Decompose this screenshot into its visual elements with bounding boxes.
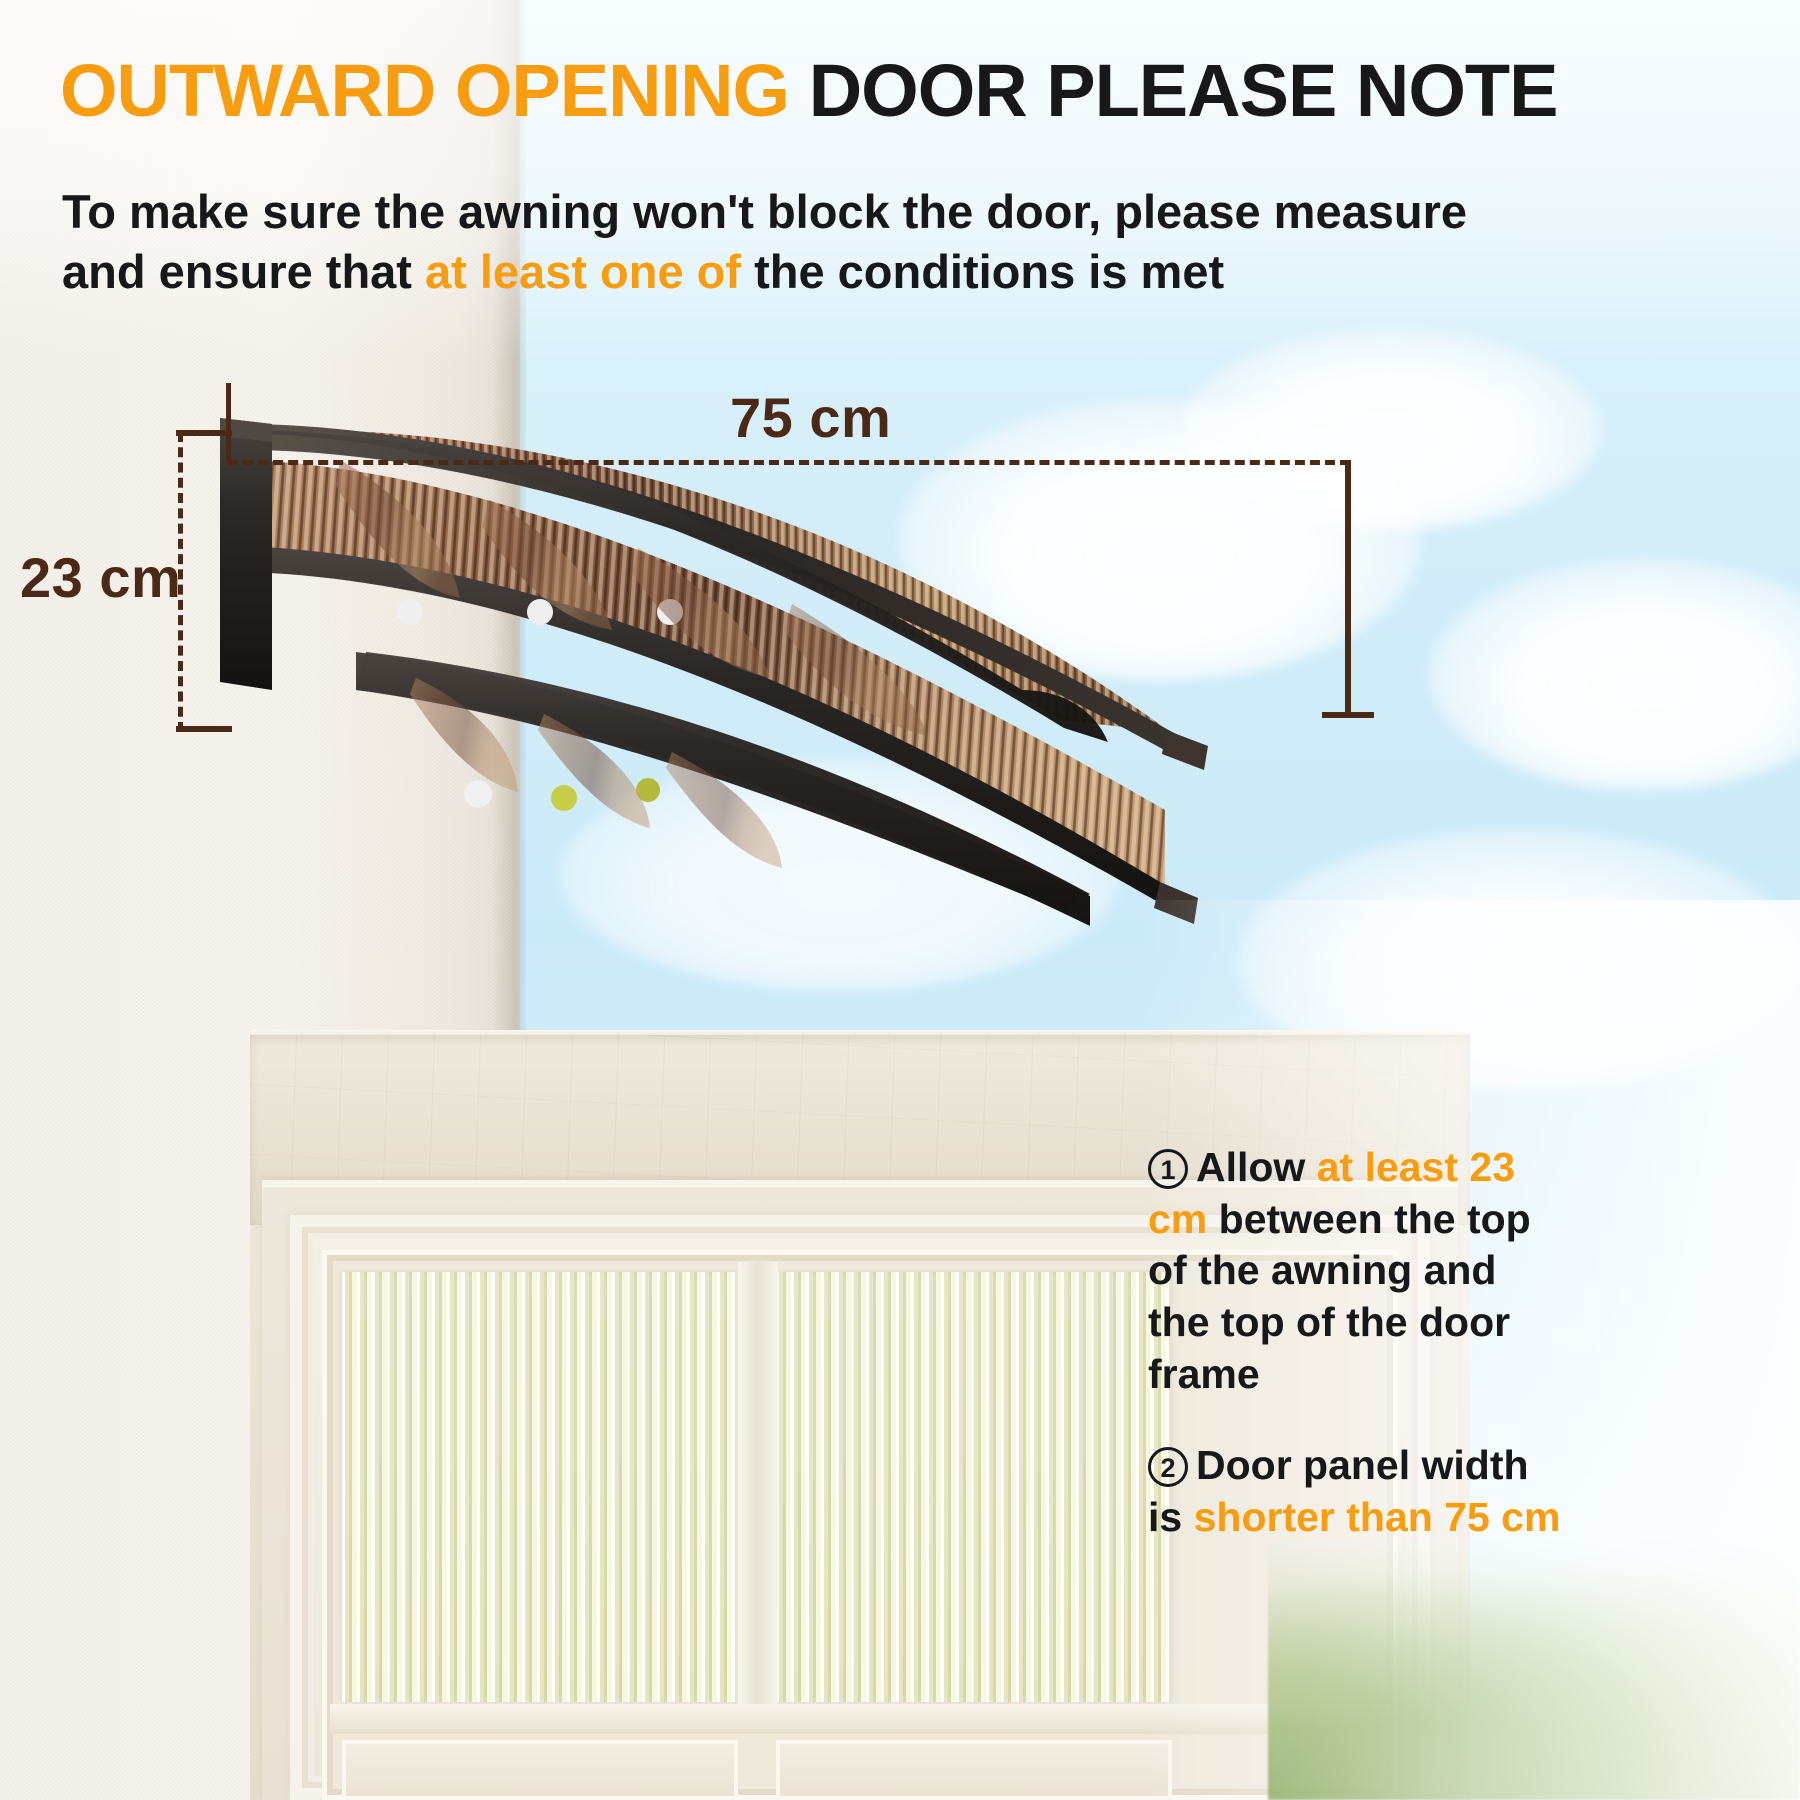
dimension-height-bottom-cap — [176, 726, 232, 732]
subtitle-line-1: To make sure the awning won't block the … — [62, 185, 1467, 238]
door-glass-pane-right — [776, 1272, 1172, 1702]
dimension-width-right-end-cap — [1322, 712, 1374, 718]
page-title-highlight: OUTWARD OPENING — [60, 49, 789, 132]
subtitle-line-2-after: the conditions is met — [741, 245, 1224, 298]
condition-1-text-plain: Allow — [1196, 1144, 1317, 1190]
cloud-shape — [1180, 330, 1600, 530]
dimension-width-right-leg — [1345, 460, 1351, 718]
condition-item-2: 2Door panel width is shorter than 75 cm — [1148, 1440, 1568, 1543]
circled-number-two-icon: 2 — [1148, 1447, 1188, 1487]
subtitle-line-2-before: and ensure that — [62, 245, 425, 298]
door-mullion — [738, 1262, 778, 1712]
dimension-width-dashed-line — [228, 460, 1350, 465]
page-title-rest: DOOR PLEASE NOTE — [809, 49, 1558, 132]
dimension-height-label: 23 cm — [20, 545, 181, 610]
awning-canopy-product — [160, 390, 1240, 930]
subtitle-paragraph: To make sure the awning won't block the … — [62, 182, 1482, 302]
door-lower-panel-left — [342, 1740, 738, 1800]
condition-item-1: 1Allow at least 23 cm between the top of… — [1148, 1142, 1568, 1400]
condition-2-text-highlight: shorter than 75 cm — [1194, 1494, 1561, 1540]
dimension-width-label: 75 cm — [730, 385, 891, 450]
door-glass-pane-left — [342, 1272, 738, 1702]
door-lower-panel-right — [776, 1740, 1172, 1800]
infographic-canvas: 75 cm 23 cm OUTWARD OPENING DOOR PLEASE … — [0, 0, 1800, 1800]
circled-number-one-icon: 1 — [1148, 1149, 1188, 1189]
page-title: OUTWARD OPENING DOOR PLEASE NOTE — [60, 54, 1760, 128]
subtitle-line-2-highlight: at least one of — [425, 245, 741, 298]
dimension-height-top-cap — [176, 430, 232, 436]
dimension-width-left-tick — [226, 383, 231, 461]
awning-end-cap-upper — [1162, 730, 1208, 770]
